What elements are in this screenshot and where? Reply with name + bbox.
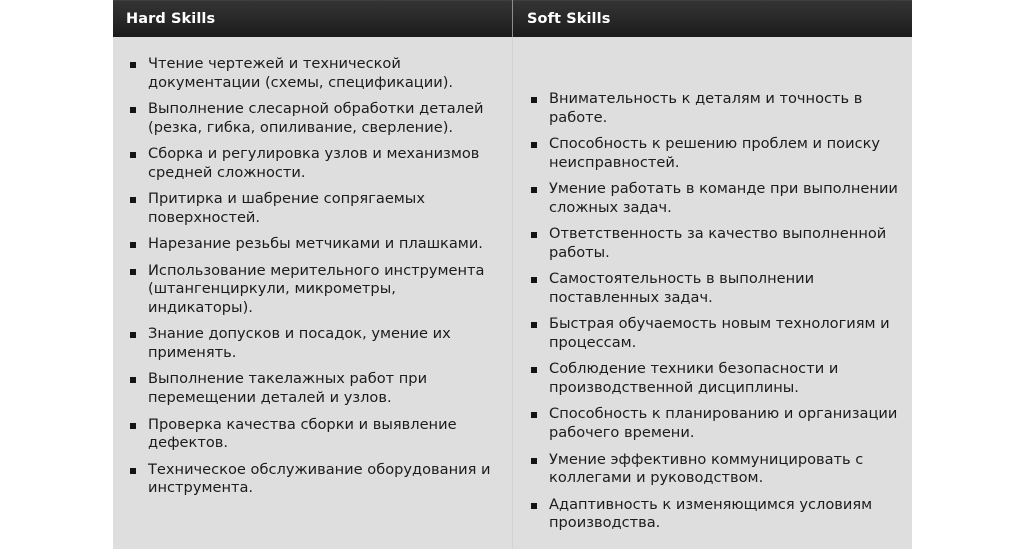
square-bullet-icon (531, 97, 537, 103)
hard-skill-item-label: Проверка качества сборки и выявление деф… (148, 416, 457, 452)
square-bullet-icon (531, 322, 537, 328)
square-bullet-icon (130, 107, 136, 113)
column-header-soft-skills-label: Soft Skills (527, 11, 610, 27)
hard-skill-item: Притирка и шабрение сопрягаемых поверхно… (126, 190, 500, 227)
hard-skill-item: Выполнение такелажных работ при перемеще… (126, 370, 500, 407)
square-bullet-icon (130, 423, 136, 429)
square-bullet-icon (531, 232, 537, 238)
square-bullet-icon (531, 277, 537, 283)
hard-skill-item-label: Нарезание резьбы метчиками и плашками. (148, 235, 483, 252)
square-bullet-icon (130, 242, 136, 248)
cell-soft-skills: Внимательность к деталям и точность в ра… (512, 37, 912, 549)
page-root: Hard Skills Soft Skills Чтение чертежей … (0, 0, 1024, 549)
square-bullet-icon (531, 142, 537, 148)
column-header-soft-skills: Soft Skills (512, 0, 912, 37)
hard-skill-item: Нарезание резьбы метчиками и плашками. (126, 235, 500, 254)
soft-skill-item-label: Соблюдение техники безопасности и произв… (549, 360, 838, 396)
soft-skill-item: Ответственность за качество выполненной … (527, 225, 900, 262)
column-header-hard-skills-label: Hard Skills (126, 11, 215, 27)
soft-skill-item-label: Умение работать в команде при выполнении… (549, 180, 898, 216)
table-body-row: Чтение чертежей и технической документац… (113, 37, 912, 549)
soft-skill-item: Внимательность к деталям и точность в ра… (527, 90, 900, 127)
square-bullet-icon (130, 197, 136, 203)
hard-skill-item: Сборка и регулировка узлов и механизмов … (126, 145, 500, 182)
soft-skill-item-label: Самостоятельность в выполнении поставлен… (549, 270, 814, 306)
hard-skill-item-label: Выполнение слесарной обработки деталей (… (148, 100, 483, 136)
skills-comparison-table: Hard Skills Soft Skills Чтение чертежей … (113, 0, 912, 549)
square-bullet-icon (130, 269, 136, 275)
square-bullet-icon (130, 468, 136, 474)
hard-skill-item-label: Техническое обслуживание оборудования и … (148, 461, 491, 497)
square-bullet-icon (130, 62, 136, 68)
soft-skill-item: Умение работать в команде при выполнении… (527, 180, 900, 217)
soft-skill-item: Адаптивность к изменяющимся условиям про… (527, 496, 900, 533)
cell-hard-skills: Чтение чертежей и технической документац… (113, 37, 512, 549)
square-bullet-icon (531, 187, 537, 193)
hard-skill-item: Техническое обслуживание оборудования и … (126, 461, 500, 498)
hard-skill-item: Чтение чертежей и технической документац… (126, 55, 500, 92)
hard-skill-item-label: Чтение чертежей и технической документац… (148, 55, 453, 91)
soft-skills-list: Внимательность к деталям и точность в ра… (527, 90, 900, 533)
table-header-row: Hard Skills Soft Skills (113, 0, 912, 37)
soft-skill-item: Способность к решению проблем и поиску н… (527, 135, 900, 172)
soft-skill-item: Способность к планированию и организации… (527, 405, 900, 442)
soft-skill-item-label: Быстрая обучаемость новым технологиям и … (549, 315, 890, 351)
hard-skill-item: Знание допусков и посадок, умение их при… (126, 325, 500, 362)
soft-skill-item-label: Умение эффективно коммуницировать с колл… (549, 451, 863, 487)
soft-skill-item: Быстрая обучаемость новым технологиям и … (527, 315, 900, 352)
soft-skill-item: Соблюдение техники безопасности и произв… (527, 360, 900, 397)
soft-skill-item: Самостоятельность в выполнении поставлен… (527, 270, 900, 307)
hard-skill-item-label: Использование мерительного инструмента (… (148, 262, 485, 316)
square-bullet-icon (130, 332, 136, 338)
square-bullet-icon (130, 377, 136, 383)
square-bullet-icon (531, 503, 537, 509)
hard-skill-item-label: Знание допусков и посадок, умение их при… (148, 325, 451, 361)
hard-skill-item-label: Сборка и регулировка узлов и механизмов … (148, 145, 479, 181)
hard-skill-item: Использование мерительного инструмента (… (126, 262, 500, 318)
soft-skill-item-label: Внимательность к деталям и точность в ра… (549, 90, 862, 126)
soft-skill-item-label: Адаптивность к изменяющимся условиям про… (549, 496, 872, 532)
square-bullet-icon (531, 367, 537, 373)
hard-skills-list: Чтение чертежей и технической документац… (126, 55, 500, 498)
soft-skill-item: Умение эффективно коммуницировать с колл… (527, 451, 900, 488)
hard-skill-item-label: Притирка и шабрение сопрягаемых поверхно… (148, 190, 425, 226)
soft-skill-item-label: Ответственность за качество выполненной … (549, 225, 886, 261)
hard-skill-item-label: Выполнение такелажных работ при перемеще… (148, 370, 427, 406)
soft-skill-item-label: Способность к планированию и организации… (549, 405, 897, 441)
square-bullet-icon (531, 458, 537, 464)
hard-skill-item: Проверка качества сборки и выявление деф… (126, 416, 500, 453)
square-bullet-icon (531, 412, 537, 418)
square-bullet-icon (130, 152, 136, 158)
soft-skill-item-label: Способность к решению проблем и поиску н… (549, 135, 880, 171)
hard-skill-item: Выполнение слесарной обработки деталей (… (126, 100, 500, 137)
column-header-hard-skills: Hard Skills (113, 0, 512, 37)
